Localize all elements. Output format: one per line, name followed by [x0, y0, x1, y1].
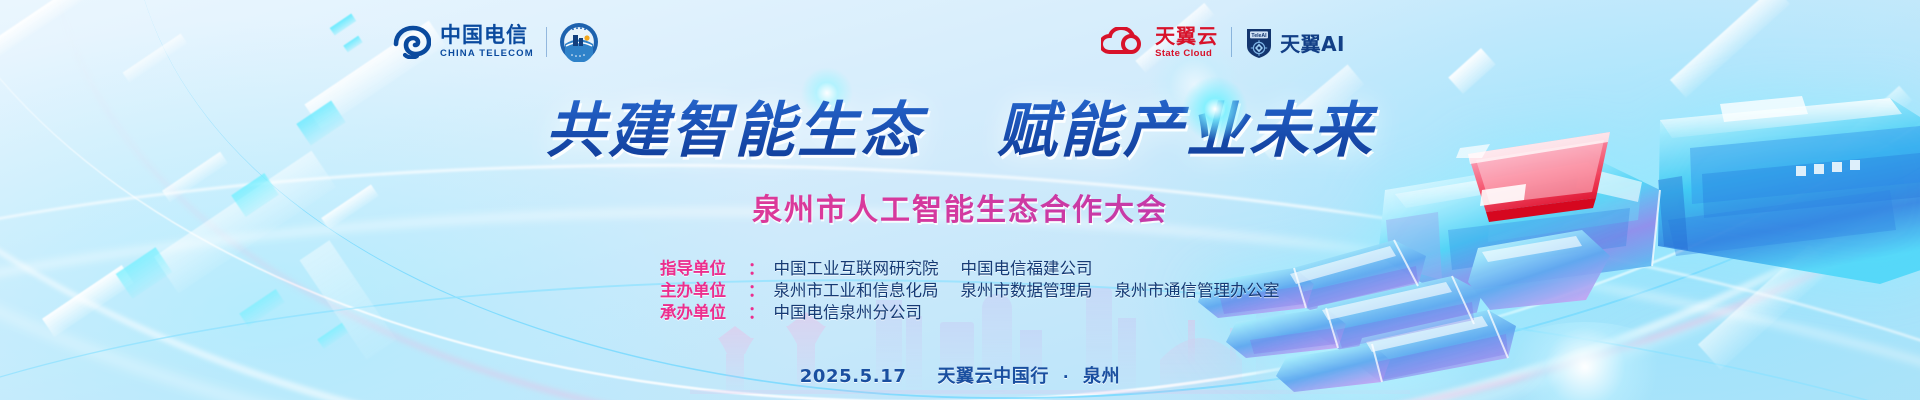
organizer-row: 承办单位 ： 中国电信泉州分公司 — [660, 302, 1280, 324]
organizer-colon: ： — [748, 258, 765, 280]
organizer-value: 泉州市工业和信息化局 — [774, 280, 939, 302]
organizer-values: 泉州市工业和信息化局 泉州市数据管理局 泉州市通信管理办公室 — [774, 280, 1280, 302]
tianyi-ai-label: 天翼AI — [1280, 28, 1345, 57]
china-telecom-swoosh-icon — [393, 25, 431, 59]
accent-chip — [330, 13, 357, 35]
logo-divider — [1231, 27, 1232, 57]
light-streak — [300, 240, 397, 360]
state-cloud-label-cn: 天翼云 — [1155, 26, 1218, 46]
organizer-label: 承办单位 — [660, 302, 748, 324]
page-subtitle: 泉州市人工智能生态合作大会 — [0, 185, 1920, 229]
headline-part1: 共建智能生态 — [545, 96, 923, 166]
organizer-value: 泉州市数据管理局 — [961, 280, 1093, 302]
organizer-label: 主办单位 — [660, 280, 748, 302]
light-streak — [0, 0, 94, 59]
accent-chip — [343, 36, 362, 53]
state-cloud-label-en: State Cloud — [1155, 49, 1218, 59]
event-banner: 中国电信 CHINA TELECOM — [0, 0, 1920, 400]
accent-chip — [116, 247, 173, 299]
light-streak — [123, 33, 188, 82]
organizer-row: 指导单位 ： 中国工业互联网研究院 中国电信福建公司 — [660, 258, 1280, 280]
event-series-name: 天翼云中国行 — [937, 366, 1049, 387]
footer-date-line: 2025.5.17 天翼云中国行 · 泉州 — [0, 362, 1920, 388]
left-logo-group: 中国电信 CHINA TELECOM — [393, 20, 599, 64]
china-telecom-label-cn: 中国电信 — [440, 25, 534, 46]
logo-divider — [546, 27, 547, 57]
right-logo-group: 天翼云 State Cloud TeleAI 天翼AI — [1101, 20, 1345, 64]
organizer-colon: ： — [748, 280, 765, 302]
organizer-values: 中国工业互联网研究院 中国电信福建公司 — [774, 258, 1093, 280]
organizer-value: 泉州市通信管理办公室 — [1115, 280, 1280, 302]
footer-middot: · — [1063, 368, 1069, 386]
organizer-value: 中国电信福建公司 — [961, 258, 1093, 280]
organizers-block: 指导单位 ： 中国工业互联网研究院 中国电信福建公司 主办单位 ： 泉州市工业和… — [660, 258, 1280, 324]
svg-text:TeleAI: TeleAI — [1251, 33, 1267, 39]
organizer-colon: ： — [748, 302, 765, 324]
page-title: 共建智能生态 赋能产业未来 — [0, 82, 1920, 169]
organizer-values: 中国电信泉州分公司 — [774, 302, 923, 324]
teleai-shield-icon: TeleAI — [1245, 26, 1273, 59]
china-telecom-logo[interactable]: 中国电信 CHINA TELECOM — [393, 25, 534, 59]
light-streak — [42, 265, 134, 337]
accent-chip — [317, 323, 349, 350]
headline-part2: 赋能产业未来 — [997, 96, 1375, 166]
organizer-value: 中国电信泉州分公司 — [774, 302, 923, 324]
china-telecom-label-en: CHINA TELECOM — [440, 49, 534, 59]
cloud-icon — [1101, 27, 1147, 57]
quanzhou-government-seal-icon[interactable] — [559, 22, 599, 62]
accent-chip — [239, 289, 284, 327]
organizer-label: 指导单位 — [660, 258, 748, 280]
organizer-row: 主办单位 ： 泉州市工业和信息化局 泉州市数据管理局 泉州市通信管理办公室 — [660, 280, 1280, 302]
state-cloud-logo[interactable]: 天翼云 State Cloud — [1101, 26, 1218, 59]
event-date: 2025.5.17 — [800, 366, 907, 387]
event-city: 泉州 — [1083, 366, 1120, 387]
organizer-value: 中国工业互联网研究院 — [774, 258, 939, 280]
tianyi-ai-logo[interactable]: TeleAI 天翼AI — [1245, 26, 1345, 59]
